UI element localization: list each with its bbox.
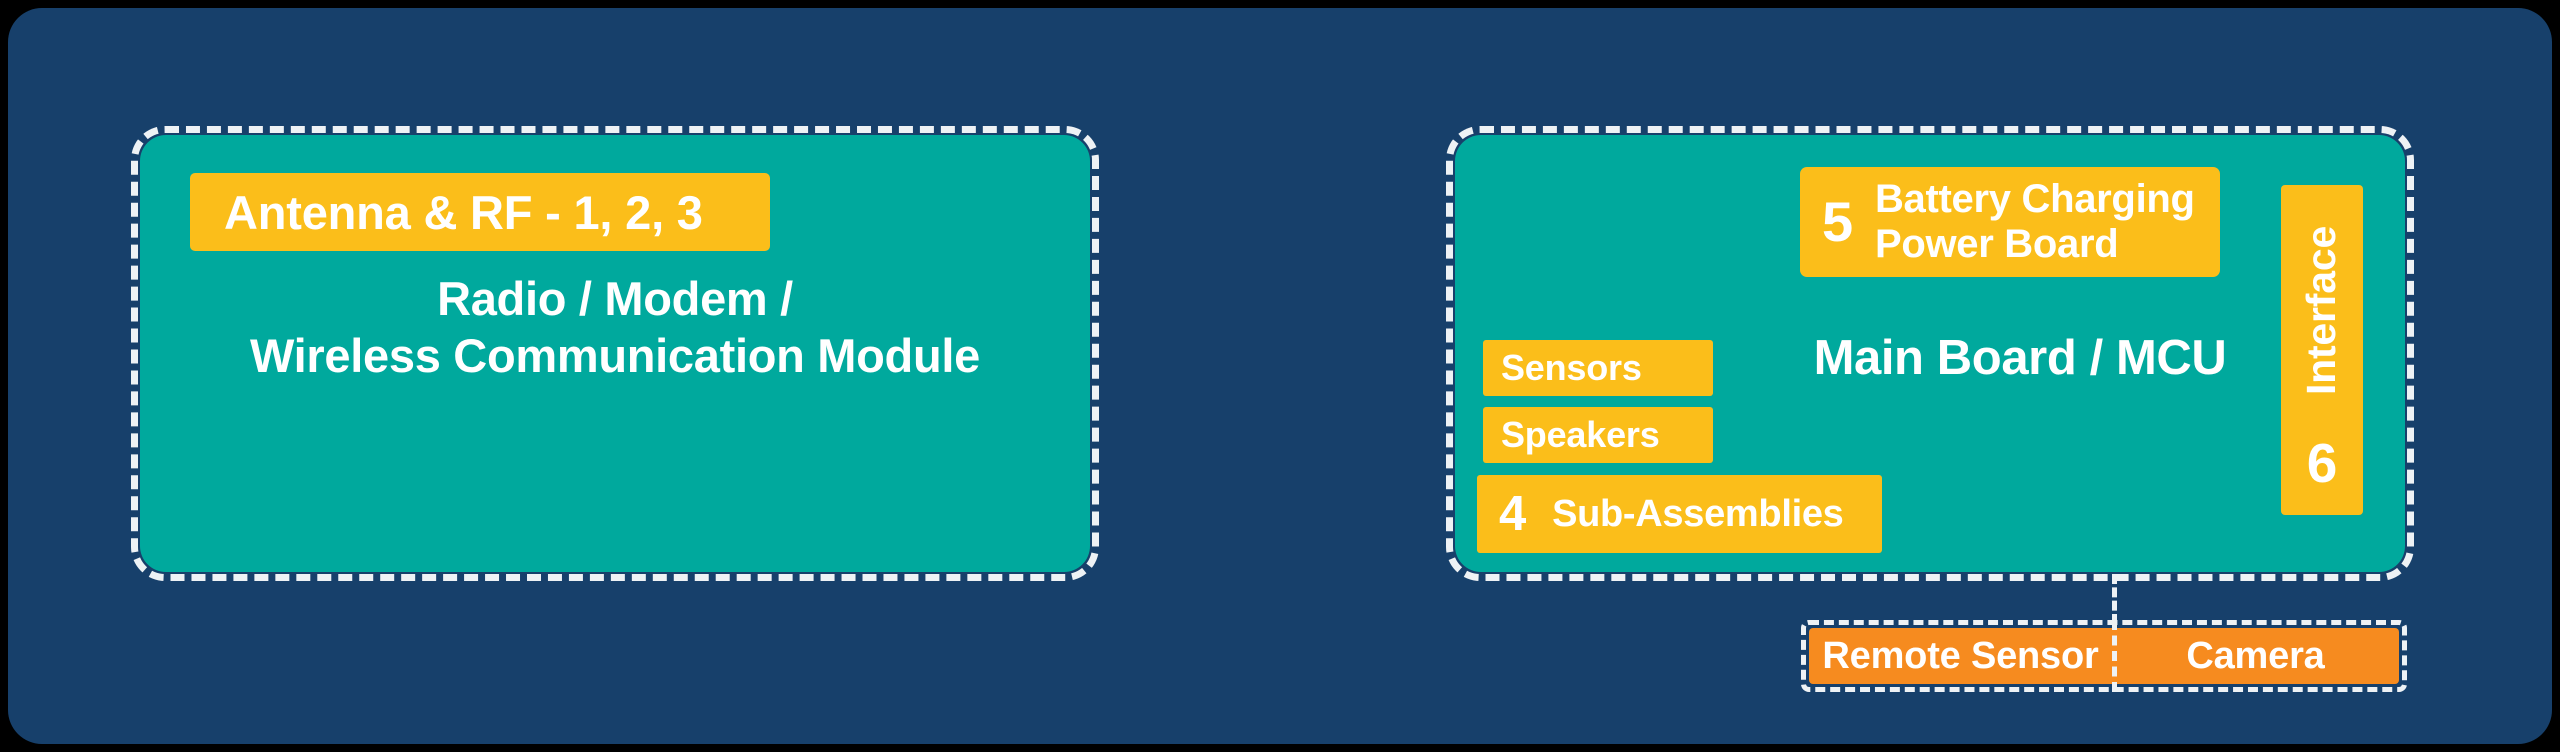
antenna-rf-chip[interactable]: Antenna & RF - 1, 2, 3 bbox=[190, 173, 770, 251]
peripheral-connector-line bbox=[2112, 574, 2117, 624]
radio-module-title: Radio / Modem / Wireless Communication M… bbox=[140, 270, 1090, 385]
camera-label: Camera bbox=[2186, 635, 2324, 678]
peripherals-divider bbox=[2112, 620, 2117, 692]
radio-module-panel[interactable]: Antenna & RF - 1, 2, 3 Radio / Modem / W… bbox=[140, 135, 1090, 572]
speakers-label: Speakers bbox=[1501, 414, 1660, 456]
sensors-label: Sensors bbox=[1501, 347, 1642, 389]
interface-number: 6 bbox=[2281, 431, 2363, 495]
peripherals-bar[interactable]: Remote Sensor Camera bbox=[1809, 628, 2399, 684]
sub-assemblies-number: 4 bbox=[1499, 490, 1526, 539]
sub-assemblies-chip[interactable]: 4 Sub-Assemblies bbox=[1477, 475, 1882, 553]
power-board-label-line1: Battery Charging bbox=[1875, 177, 2195, 221]
main-board-panel[interactable]: 5 Battery Charging Power Board Main Boar… bbox=[1455, 135, 2405, 572]
radio-module-title-line1: Radio / Modem / bbox=[140, 270, 1090, 327]
remote-sensor-label: Remote Sensor bbox=[1822, 635, 2098, 678]
remote-sensor-cell[interactable]: Remote Sensor bbox=[1809, 628, 2112, 684]
diagram-frame: Antenna & RF - 1, 2, 3 Radio / Modem / W… bbox=[8, 8, 2552, 744]
radio-module-title-line2: Wireless Communication Module bbox=[140, 327, 1090, 384]
diagram-canvas: Antenna & RF - 1, 2, 3 Radio / Modem / W… bbox=[0, 0, 2560, 752]
speakers-chip[interactable]: Speakers bbox=[1483, 407, 1713, 463]
interface-chip[interactable]: Interface 6 bbox=[2281, 185, 2363, 515]
battery-charging-power-board-label: Battery Charging Power Board bbox=[1875, 177, 2195, 267]
power-board-label-line2: Power Board bbox=[1875, 222, 2118, 266]
antenna-rf-label: Antenna & RF - 1, 2, 3 bbox=[224, 185, 703, 240]
battery-charging-power-board-chip[interactable]: 5 Battery Charging Power Board bbox=[1800, 167, 2220, 277]
main-board-title: Main Board / MCU bbox=[1755, 330, 2285, 386]
sub-assemblies-label: Sub-Assemblies bbox=[1552, 493, 1843, 536]
sensors-chip[interactable]: Sensors bbox=[1483, 340, 1713, 396]
interface-label: Interface bbox=[2299, 225, 2346, 394]
interface-label-wrapper: Interface bbox=[2281, 185, 2363, 435]
camera-cell[interactable]: Camera bbox=[2112, 628, 2399, 684]
battery-charging-power-board-number: 5 bbox=[1822, 194, 1853, 250]
